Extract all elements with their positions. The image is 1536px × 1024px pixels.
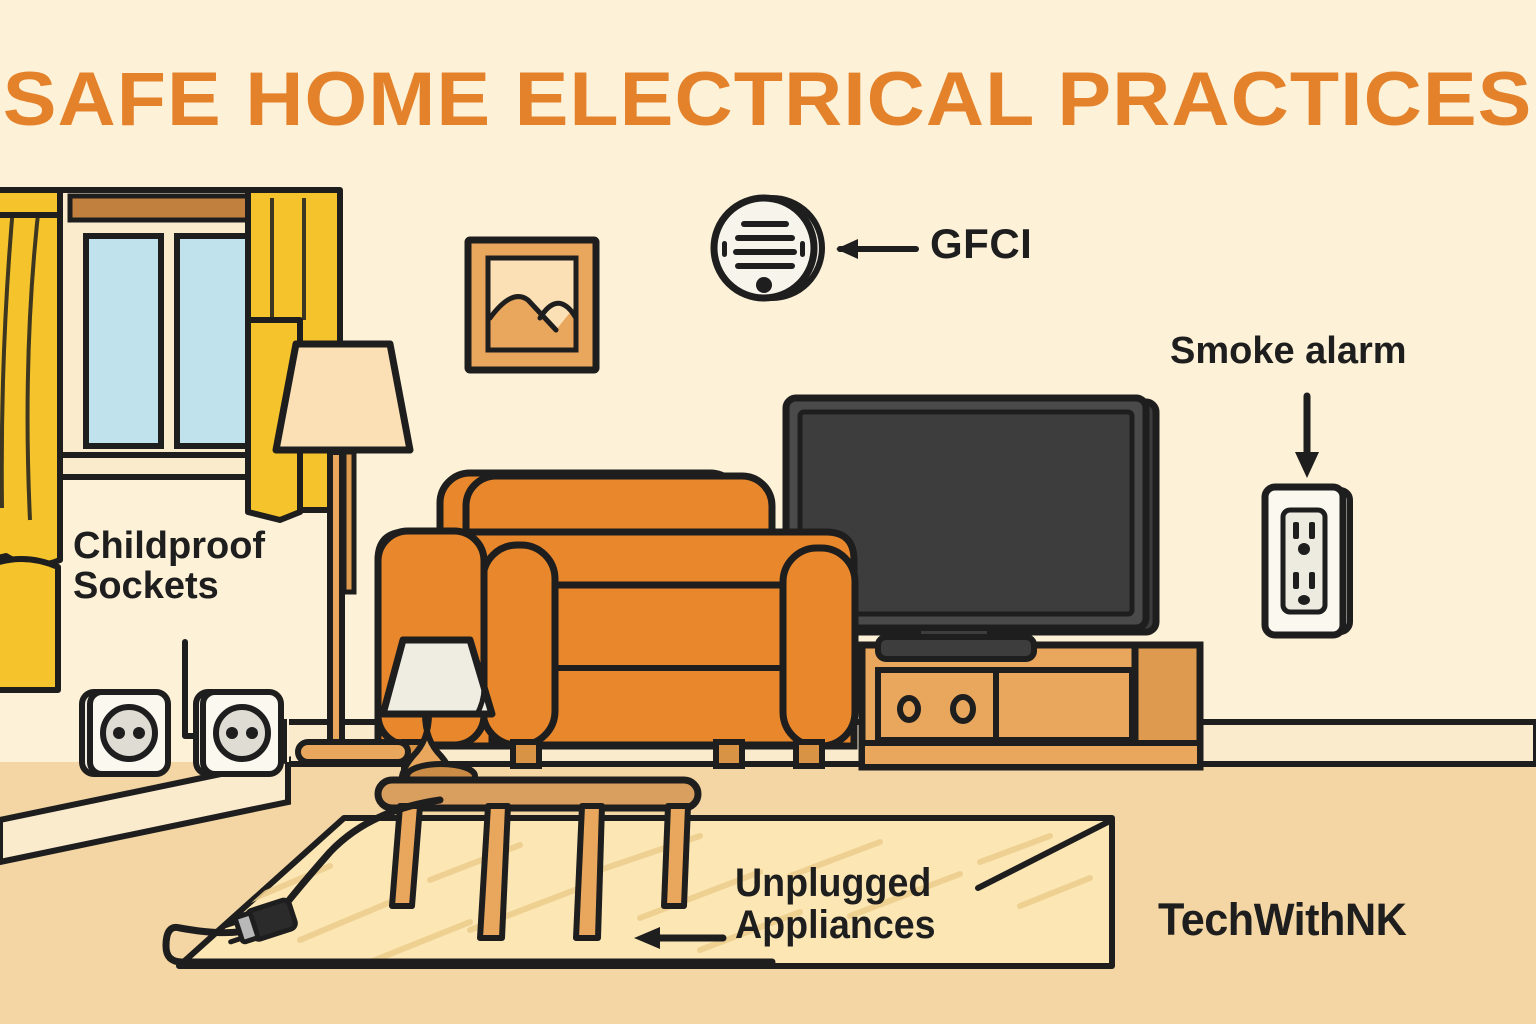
infographic-poster: SAFE HOME ELECTRICAL PRACTICES GFCI Smok… xyxy=(0,0,1536,1024)
framed-picture xyxy=(468,240,596,370)
label-unplugged-appliances[interactable]: Unplugged Appliances xyxy=(735,862,936,947)
window xyxy=(55,190,277,477)
label-smoke-alarm[interactable]: Smoke alarm xyxy=(1170,331,1407,371)
round-detector[interactable] xyxy=(714,198,822,298)
wall-outlet[interactable] xyxy=(1265,487,1350,635)
curtain-left xyxy=(0,190,60,690)
euro-socket-right xyxy=(196,692,281,774)
area-rug xyxy=(179,818,1112,966)
brand-watermark: TechWithNK xyxy=(1158,896,1406,944)
media-console xyxy=(862,645,1200,767)
label-childproof-sockets[interactable]: Childproof Sockets xyxy=(73,526,265,607)
label-gfci[interactable]: GFCI xyxy=(930,222,1032,267)
window-pane-right xyxy=(177,236,252,446)
euro-socket-left xyxy=(82,692,168,774)
window-pane-left xyxy=(86,236,161,446)
